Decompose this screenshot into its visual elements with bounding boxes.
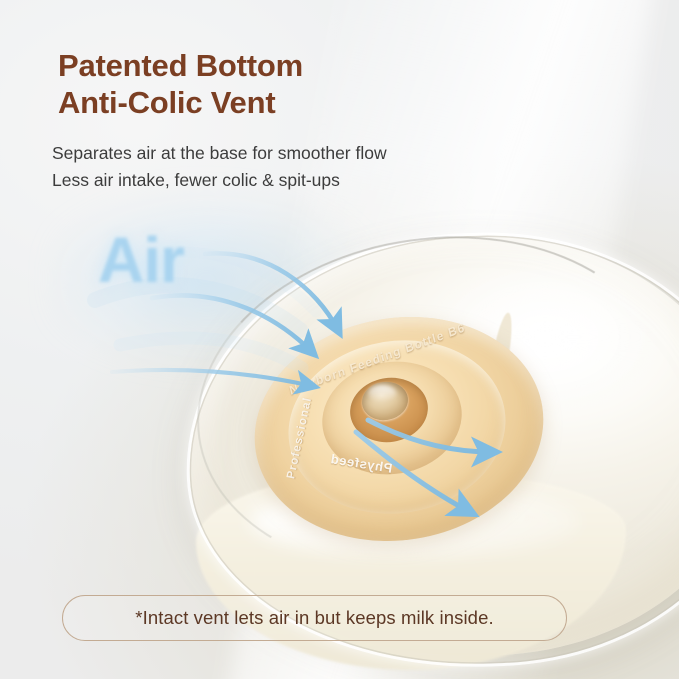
page-title: Patented Bottom Anti-Colic Vent [58, 48, 618, 122]
air-label: Air [98, 228, 184, 292]
footnote-text: *Intact vent lets air in but keeps milk … [135, 607, 493, 629]
product-feature-card: Patented Bottom Anti-Colic Vent Separate… [0, 0, 679, 679]
page-subtitle: Separates air at the base for smoother f… [52, 140, 632, 193]
footnote-banner: *Intact vent lets air in but keeps milk … [62, 595, 567, 641]
